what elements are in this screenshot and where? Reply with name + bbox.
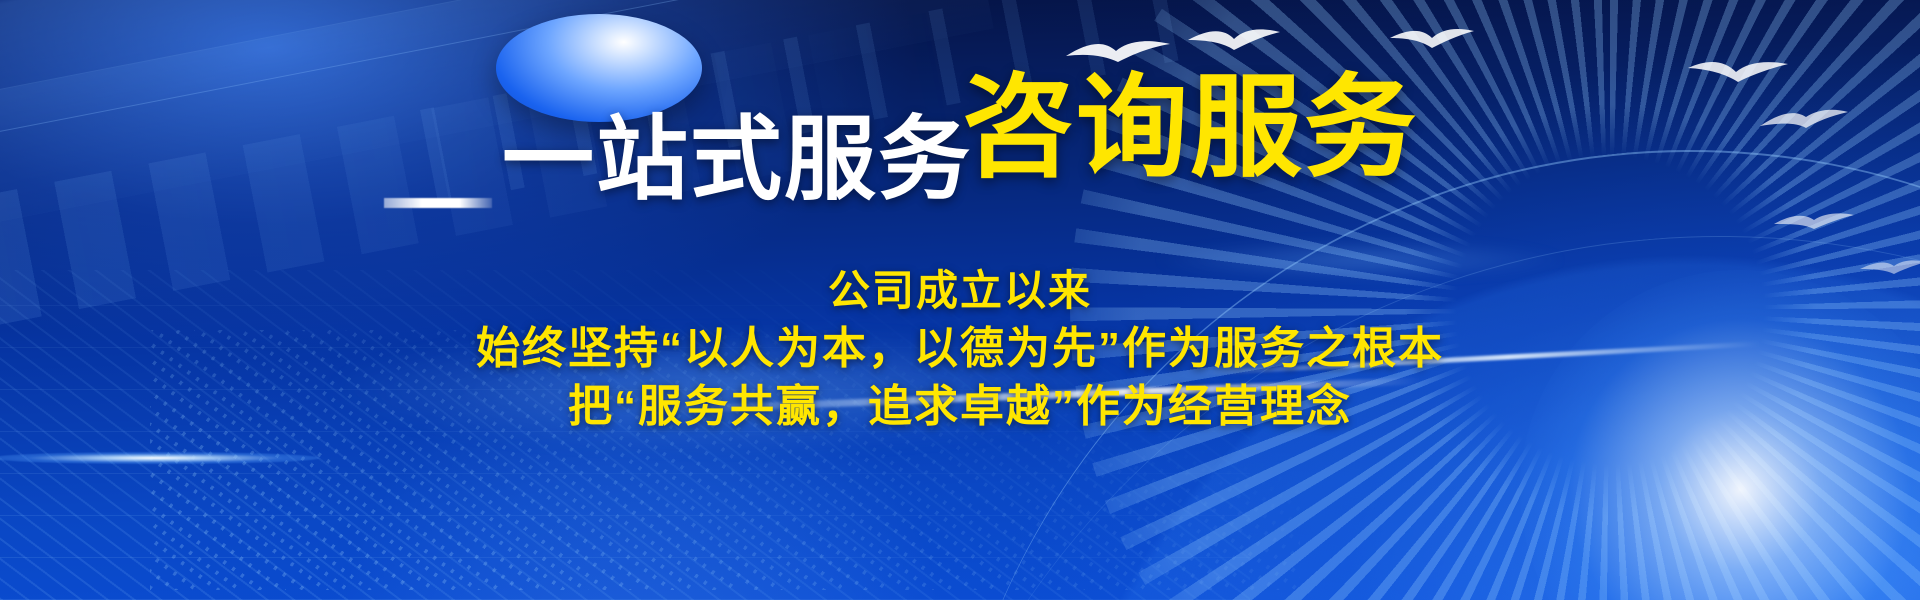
lens-flare <box>0 452 320 464</box>
body-line-1: 公司成立以来 <box>0 262 1920 320</box>
bird-icon <box>1388 26 1476 56</box>
body-line-3: 把“服务共赢，追求卓越”作为经营理念 <box>0 378 1920 436</box>
body-copy: 公司成立以来 始终坚持“以人为本，以德为先”作为服务之根本 把“服务共赢，追求卓… <box>0 262 1920 436</box>
body-line-2: 始终坚持“以人为本，以德为先”作为服务之根本 <box>0 320 1920 378</box>
bird-icon <box>1186 26 1282 58</box>
headline-accent: 咨询服务 <box>962 72 1418 184</box>
headline-primary: 一站式服务 <box>502 114 972 206</box>
white-highlight-bar <box>384 198 492 208</box>
promo-banner: 一站式服务 咨询服务 公司成立以来 始终坚持“以人为本，以德为先”作为服务之根本… <box>0 0 1920 600</box>
bird-icon <box>1772 208 1856 234</box>
headline: 一站式服务 咨询服务 <box>0 72 1920 184</box>
